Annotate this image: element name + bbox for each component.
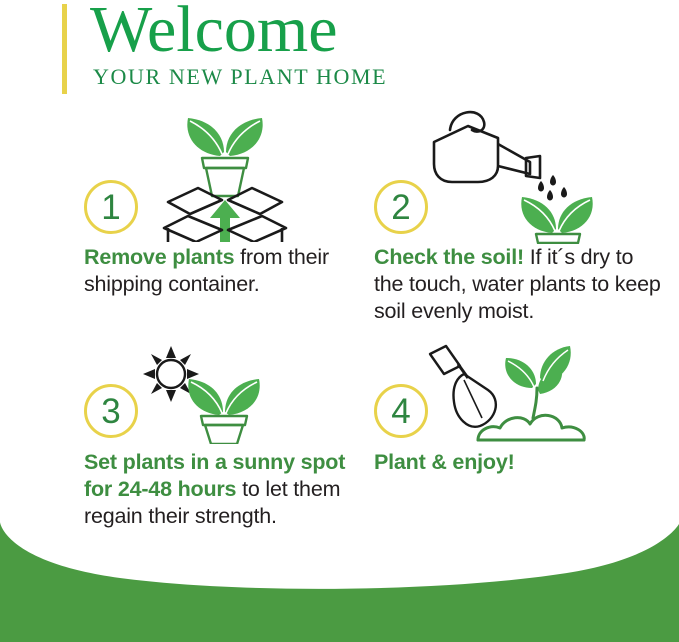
header: Welcome YOUR NEW PLANT HOME xyxy=(62,0,622,100)
step-4-text: Plant & enjoy! xyxy=(374,449,664,476)
step-4-lead: Plant & enjoy! xyxy=(374,450,515,474)
footer-wave-decoration xyxy=(0,522,679,642)
header-accent-rule xyxy=(62,4,67,94)
step-number-badge-1: 1 xyxy=(84,180,138,234)
page-title: Welcome xyxy=(90,0,338,66)
watering-can-plant-icon xyxy=(426,104,601,249)
sun-and-potted-plant-icon xyxy=(123,344,323,449)
step-2-text: Check the soil! If it´s dry to the touch… xyxy=(374,244,666,325)
step-2-lead: Check the soil! xyxy=(374,245,524,269)
step-1-text: Remove plants from their shipping contai… xyxy=(84,244,374,298)
plant-in-open-box-icon xyxy=(150,104,300,247)
trowel-and-seedling-icon xyxy=(420,344,620,449)
step-1-lead: Remove plants xyxy=(84,245,234,269)
page-subtitle: YOUR NEW PLANT HOME xyxy=(93,64,387,90)
footer-wave-shape xyxy=(0,522,679,642)
welcome-plant-care-infographic: Welcome YOUR NEW PLANT HOME 1 xyxy=(0,0,679,642)
step-number-badge-2: 2 xyxy=(374,180,428,234)
step-3-text: Set plants in a sunny spot for 24-48 hou… xyxy=(84,449,374,530)
